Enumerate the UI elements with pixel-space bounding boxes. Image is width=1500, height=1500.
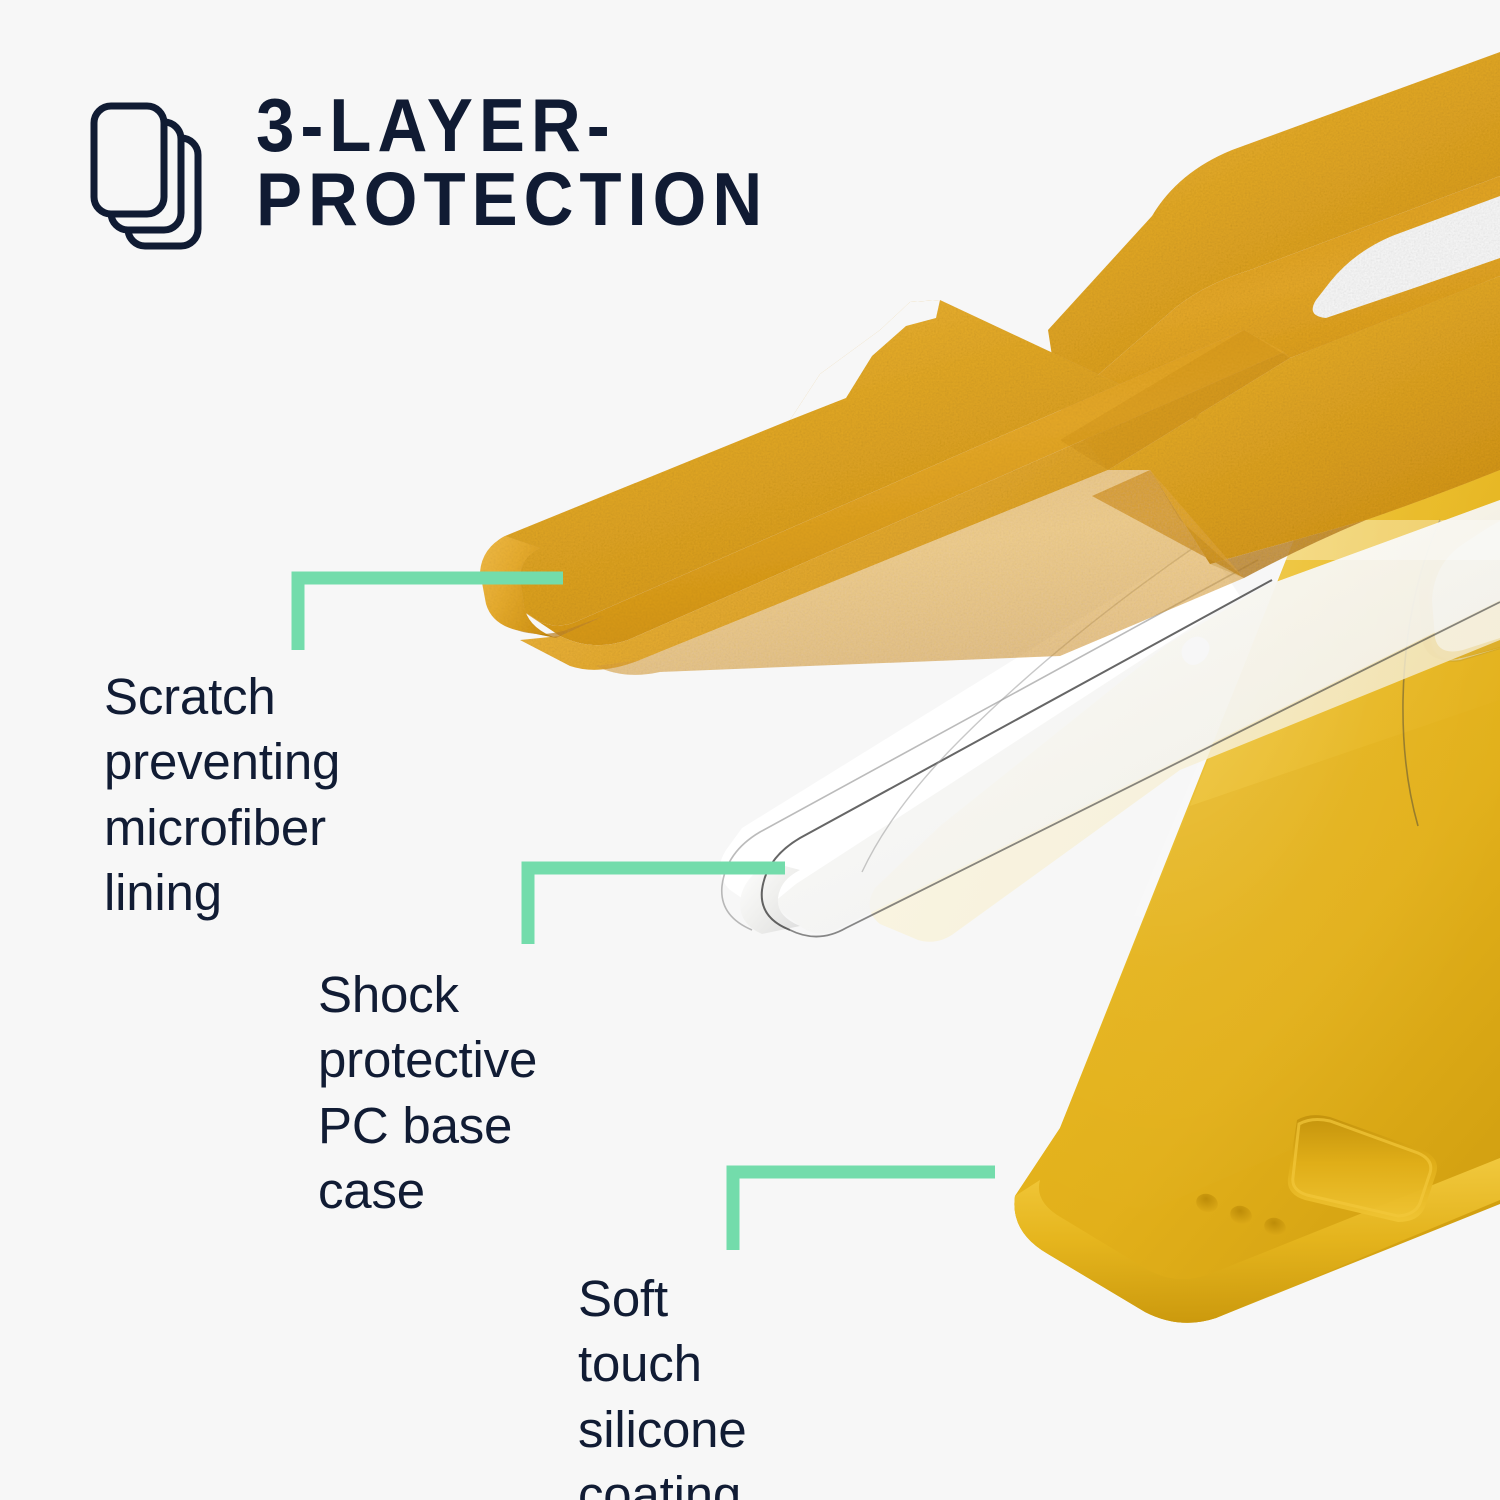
infographic-canvas: 3-LAYER- PROTECTION Scratch preventing m… (0, 0, 1500, 1500)
stacked-layers-icon (88, 100, 210, 265)
callout-label-3: Soft touch silicone coating (578, 1266, 746, 1500)
leader-line-3 (733, 1172, 995, 1250)
page-title: 3-LAYER- PROTECTION (256, 88, 768, 237)
callout-label-2: Shock protective PC base case (318, 962, 537, 1223)
callout-label-1: Scratch preventing microfiber lining (104, 664, 340, 925)
header: 3-LAYER- PROTECTION (88, 88, 813, 265)
